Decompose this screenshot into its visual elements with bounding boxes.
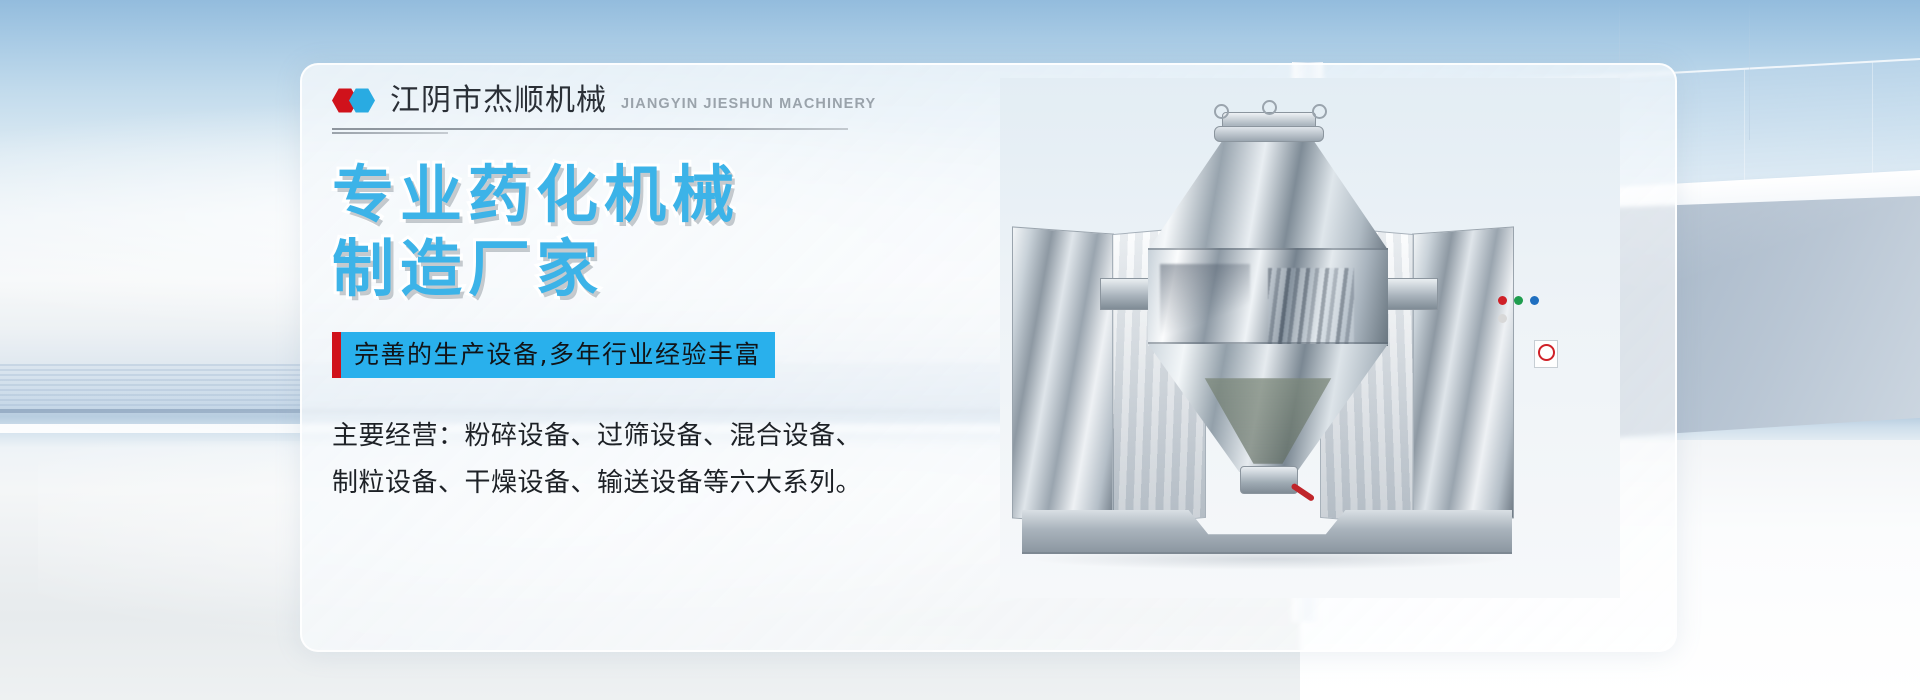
control-indicator-green	[1514, 296, 1523, 305]
brand-name-en: JIANGYIN JIESHUN MACHINERY	[621, 97, 876, 112]
machine-lifting-lug-icon	[1312, 104, 1327, 119]
highlight-accent-bar	[332, 332, 341, 378]
description-line-1: 主要经营：粉碎设备、过筛设备、混合设备、	[332, 413, 952, 460]
no-entry-icon	[1538, 344, 1555, 361]
headline-line-2: 制造厂家	[332, 232, 952, 306]
machine-trunnion-right	[1384, 278, 1438, 310]
machine-top-flange	[1214, 126, 1324, 142]
machine-lifting-lug-icon	[1262, 100, 1277, 115]
machine-leg-left	[1012, 226, 1114, 525]
promo-banner: 江阴市杰顺机械 JIANGYIN JIESHUN MACHINERY 专业药化机…	[0, 0, 1920, 700]
machine-lifting-lug-icon	[1214, 104, 1229, 119]
brand-name-cn: 江阴市杰顺机械	[390, 86, 607, 116]
product-photo	[1000, 78, 1620, 598]
machine-leg-right	[1412, 226, 1514, 525]
machine-reflection-right	[1268, 268, 1354, 348]
control-indicator-grey	[1498, 314, 1507, 323]
brand-mark	[332, 88, 376, 113]
banner-text-column: 江阴市杰顺机械 JIANGYIN JIESHUN MACHINERY 专业药化机…	[332, 80, 952, 507]
description-line-2: 制粒设备、干燥设备、输送设备等六大系列。	[332, 460, 952, 507]
machine-trunnion-left	[1100, 278, 1154, 310]
divider-line-secondary	[332, 132, 448, 134]
machine-weld-seam-lower	[1148, 342, 1388, 344]
glass-seam-line	[1749, 0, 1750, 140]
highlight-text: 完善的生产设备,多年行业经验丰富	[341, 332, 775, 378]
highlight-banner: 完善的生产设备,多年行业经验丰富	[332, 332, 775, 378]
machine-weld-seam-upper	[1148, 248, 1388, 250]
description: 主要经营：粉碎设备、过筛设备、混合设备、 制粒设备、干燥设备、输送设备等六大系列…	[332, 413, 952, 507]
machine-reflection-left	[1160, 264, 1250, 336]
headline: 专业药化机械 制造厂家	[332, 158, 952, 306]
divider-line-primary	[332, 128, 848, 130]
divider	[332, 128, 848, 136]
brand-logo[interactable]: 江阴市杰顺机械 JIANGYIN JIESHUN MACHINERY	[332, 80, 952, 116]
control-indicator-red	[1498, 296, 1507, 305]
machine-discharge-outlet	[1240, 466, 1298, 494]
control-indicator-blue	[1530, 296, 1539, 305]
headline-line-1: 专业药化机械	[332, 158, 952, 232]
